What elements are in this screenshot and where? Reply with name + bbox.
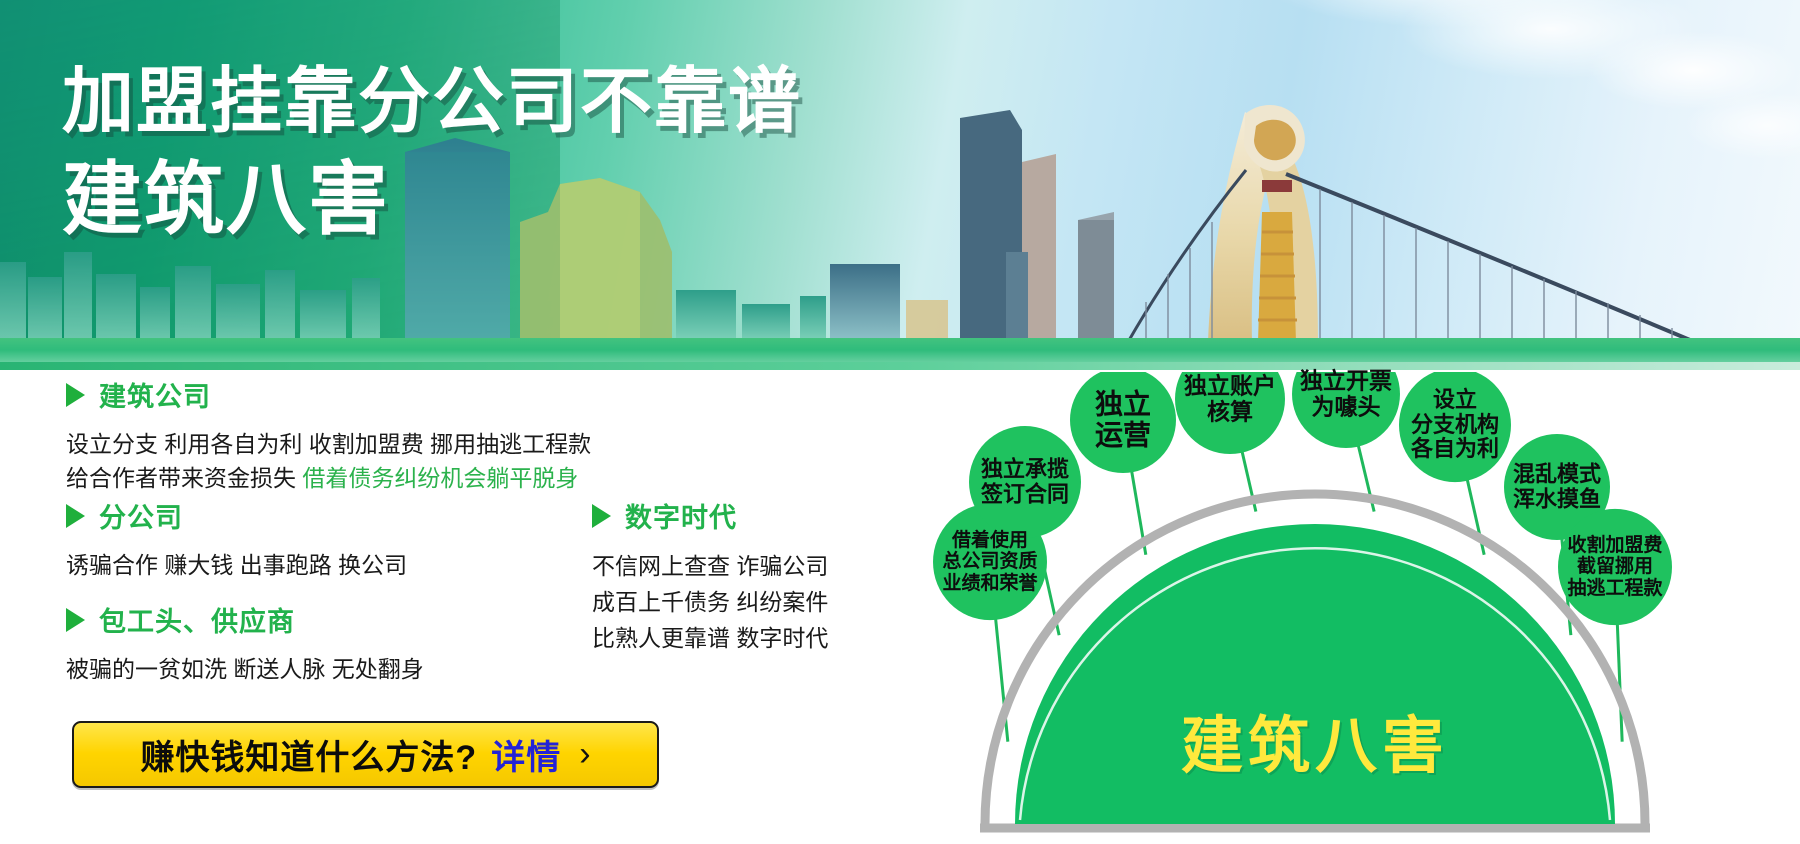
section-digital-era: 数字时代 不信网上查查 诈骗公司 成百上千债务 纠纷案件 比熟人更靠谱 数字时代 [592, 496, 828, 656]
section-construction-company: 建筑公司 设立分支 利用各自为利 收割加盟费 挪用抽逃工程款 给合作者带来资金损… [66, 375, 591, 495]
bubble-circle[interactable] [1070, 372, 1176, 473]
triangle-bullet-icon [66, 608, 85, 632]
headline-line-1: 加盟挂靠分公司不靠谱 [62, 60, 802, 144]
triangle-bullet-icon [592, 504, 611, 528]
body-accent-text: 借着债务纠纷机会躺平脱身 [302, 465, 578, 491]
section-body: 不信网上查查 诈骗公司 成百上千债务 纠纷案件 比熟人更靠谱 数字时代 [592, 548, 828, 656]
section-title: 包工头、供应商 [99, 600, 295, 639]
section-heading: 包工头、供应商 [66, 600, 424, 639]
section-body: 设立分支 利用各自为利 收割加盟费 挪用抽逃工程款 给合作者带来资金损失 借着债… [66, 427, 591, 495]
cta-label: 赚快钱知道什么方法? [140, 730, 477, 779]
left-content-column: 建筑公司 设立分支 利用各自为利 收割加盟费 挪用抽逃工程款 给合作者带来资金损… [0, 380, 830, 844]
chevron-right-icon: › [579, 735, 590, 774]
section-heading: 数字时代 [592, 496, 828, 535]
hero-banner: 加盟挂靠分公司不靠谱 建筑八害 [0, 0, 1800, 368]
bubble-circle[interactable] [1175, 372, 1285, 454]
body-line: 诱骗合作 赚大钱 出事跑路 换公司 [66, 548, 407, 582]
body-line: 设立分支 利用各自为利 收割加盟费 挪用抽逃工程款 [66, 427, 591, 461]
section-title: 建筑公司 [99, 375, 211, 414]
cta-details-link[interactable]: 详情 [491, 730, 561, 779]
section-body: 被骗的一贫如洗 断送人脉 无处翻身 [66, 652, 424, 686]
bubble-circle[interactable] [969, 426, 1081, 538]
section-heading: 建筑公司 [66, 375, 591, 414]
triangle-bullet-icon [66, 504, 85, 528]
dome-center-label: 建筑八害 [1181, 695, 1449, 785]
bubble-circle[interactable] [1399, 372, 1511, 482]
body-text: 设立分支 利用各自为利 收割加盟费 挪用抽逃工程款 [66, 431, 591, 457]
section-title: 分公司 [99, 496, 183, 535]
bubble-circle[interactable] [1292, 372, 1400, 448]
triangle-bullet-icon [66, 383, 85, 407]
banner-divider [0, 362, 1800, 370]
section-branch-company: 分公司 诱骗合作 赚大钱 出事跑路 换公司 [66, 496, 407, 582]
bubble-circle[interactable] [1558, 509, 1672, 625]
section-body: 诱骗合作 赚大钱 出事跑路 换公司 [66, 548, 407, 582]
page-title: 加盟挂靠分公司不靠谱 建筑八害 [62, 60, 802, 248]
section-title: 数字时代 [625, 496, 737, 535]
body-line: 成百上千债务 纠纷案件 [592, 584, 828, 620]
cta-button[interactable]: 赚快钱知道什么方法? 详情 › [72, 721, 659, 788]
body-line: 不信网上查查 诈骗公司 [592, 548, 828, 584]
body-line: 比熟人更靠谱 数字时代 [592, 620, 828, 656]
section-heading: 分公司 [66, 496, 407, 535]
eight-harms-diagram: 建筑八害 借着使用 总公司资质 业绩和荣誉独立承揽 签订合同独立 运营独立账户 … [830, 372, 1800, 844]
section-contractor-supplier: 包工头、供应商 被骗的一贫如洗 断送人脉 无处翻身 [66, 600, 424, 686]
body-line: 给合作者带来资金损失 借着债务纠纷机会躺平脱身 [66, 461, 591, 495]
body-line: 被骗的一贫如洗 断送人脉 无处翻身 [66, 652, 424, 686]
body-text: 给合作者带来资金损失 [66, 465, 302, 491]
headline-line-2: 建筑八害 [62, 152, 802, 248]
